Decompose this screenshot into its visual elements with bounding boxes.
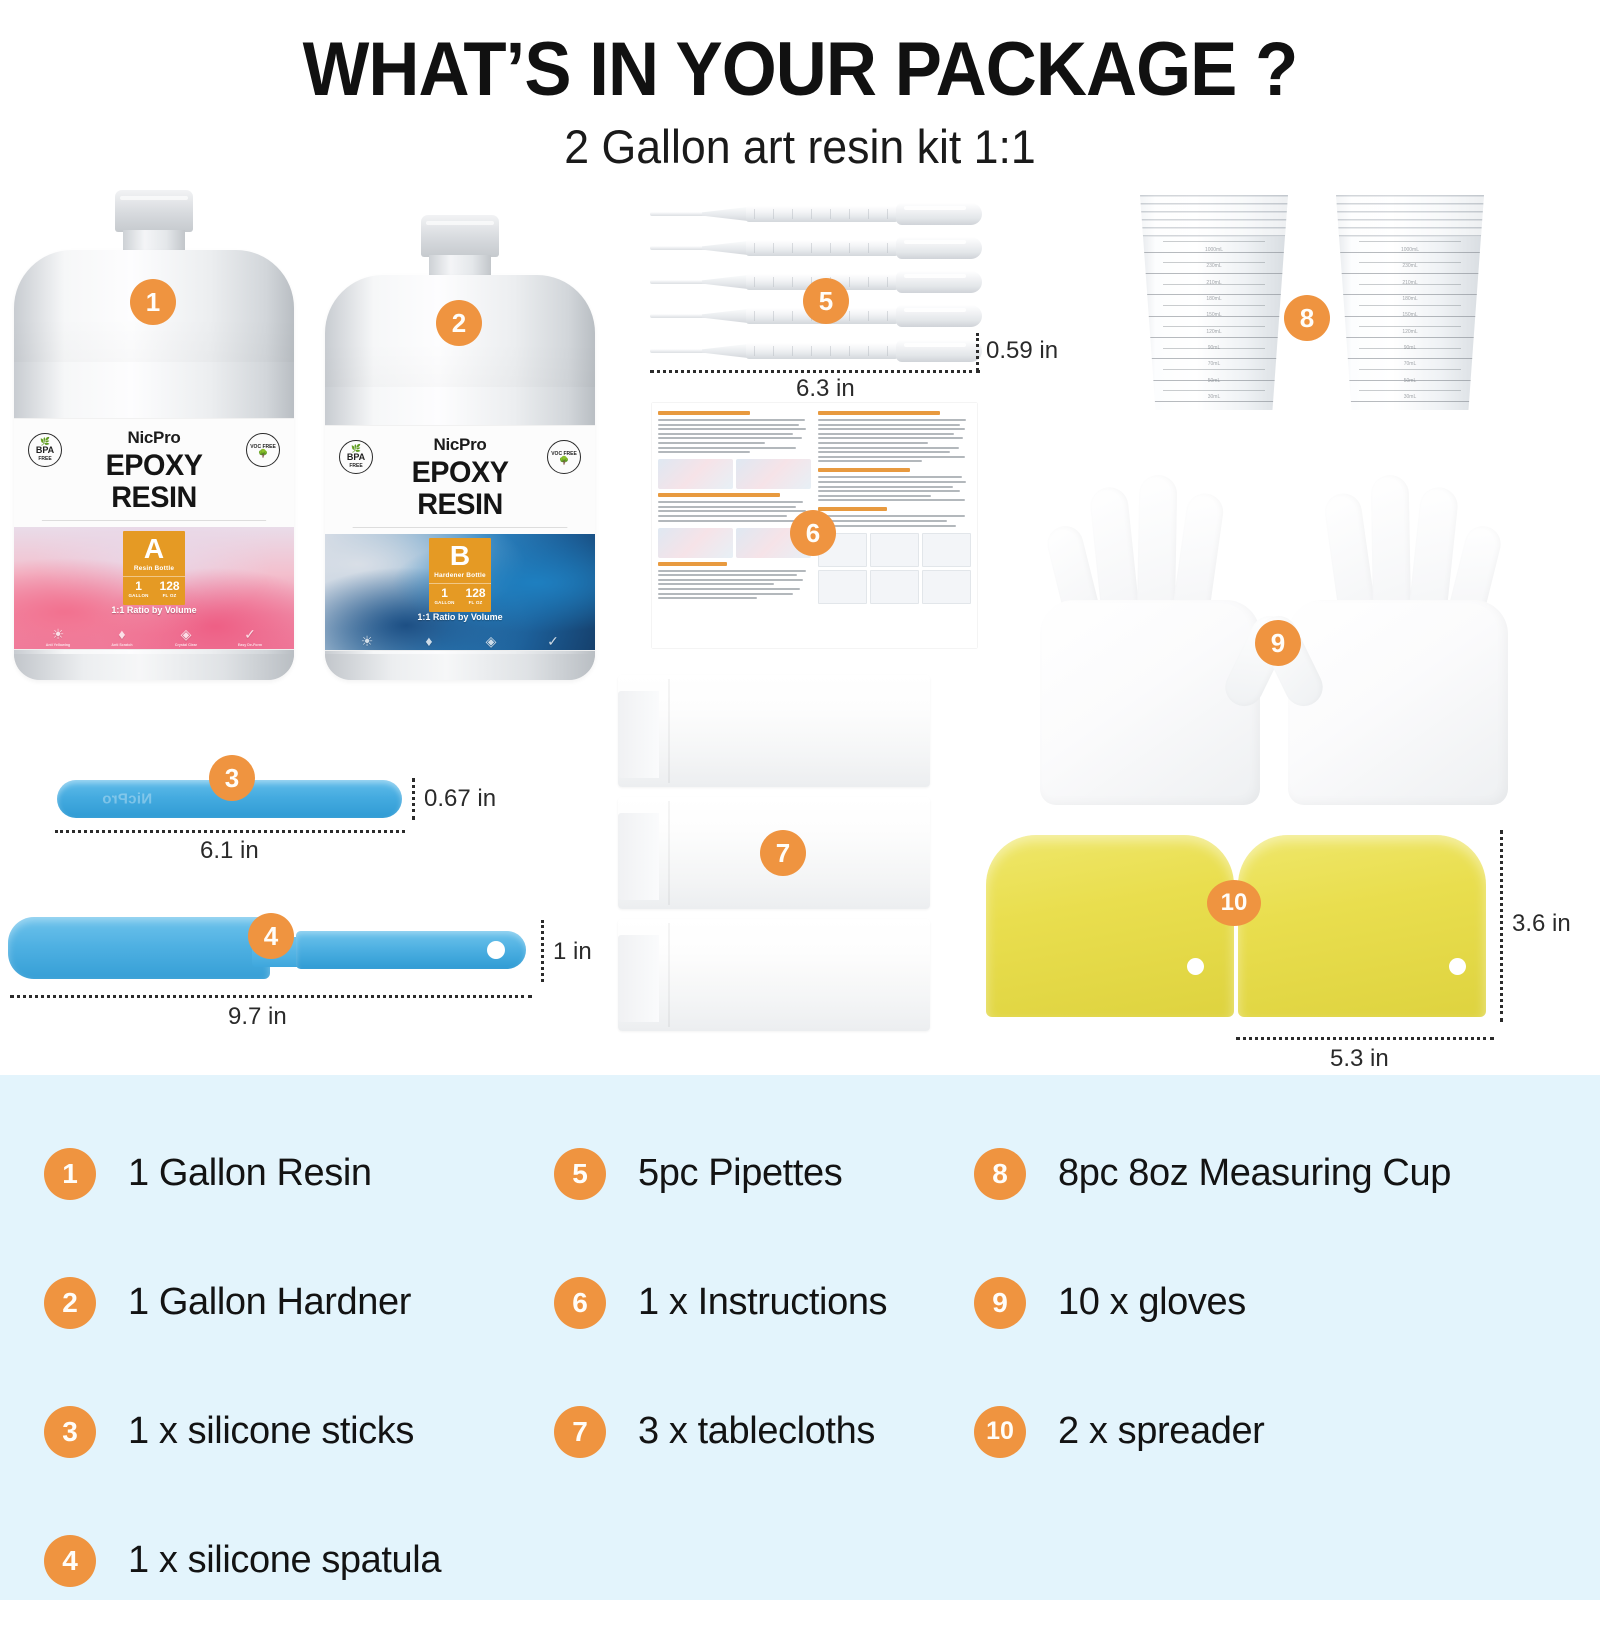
sheet-paragraph	[818, 419, 971, 462]
spatula-length-line	[10, 995, 532, 998]
chip-gallon: 1 GALLON	[434, 587, 454, 605]
cup-graduation-labels: 1000mL230mL210mL180mL150mL120mL90mL70mL5…	[1166, 247, 1262, 400]
sheet-product-grid	[818, 533, 971, 604]
stick-length-line	[55, 830, 405, 833]
sheet-heading	[658, 562, 727, 566]
label-artwork-blue: B Hardener Bottle 1 GALLON 128 FL OZ	[325, 534, 595, 651]
feature-crystal-clear: ◈ Crystal Clear	[166, 627, 206, 647]
sheet-paragraph	[658, 419, 811, 453]
legend-label: 8pc 8oz Measuring Cup	[1058, 1152, 1451, 1195]
diamond-icon: ◈	[471, 634, 511, 648]
legend-label: 5pc Pipettes	[638, 1152, 842, 1195]
pipette-bulb	[896, 305, 982, 327]
brush-icon: ✓	[230, 627, 270, 641]
legend-label: 1 x silicone sticks	[128, 1410, 414, 1453]
bottle-label: 🌿 BPA FREE VOC FREE 🌳 NicPro EPOXY RESIN…	[325, 425, 595, 651]
product-name-line2: RESIN	[20, 483, 289, 512]
sheet-photo	[658, 528, 733, 558]
spreader-height-line	[1500, 830, 1503, 1022]
page-subtitle: 2 Gallon art resin kit 1:1	[40, 119, 1560, 174]
sheet-paragraph	[818, 515, 971, 526]
pipette-height-line	[976, 333, 979, 371]
legend-label: 1 Gallon Resin	[128, 1152, 372, 1195]
feature-anti-yellowing: ☀ Anti Yellowing	[38, 627, 78, 647]
pipette-stem	[650, 314, 708, 318]
legend-label: 1 x silicone spatula	[128, 1539, 441, 1582]
pipette-height-label: 0.59 in	[986, 337, 1058, 365]
legend-badge: 6	[554, 1277, 606, 1329]
callout-badge-9: 9	[1255, 620, 1301, 666]
tablecloth	[618, 675, 930, 787]
feature-easy-deform: ✓ Easy De-Form	[533, 634, 573, 651]
pipette-length-line	[650, 370, 980, 373]
sheet-heading	[658, 411, 750, 415]
legend-item-9: 9 10 x gloves	[974, 1238, 1564, 1367]
measuring-cup: 1000mL230mL210mL180mL150mL120mL90mL70mL5…	[1128, 195, 1300, 410]
feature-icon-row: ☀ Anti Yellowing ♦ Anti Scratch ◈ Crysta…	[325, 634, 595, 651]
measuring-cup: 1000mL230mL210mL180mL150mL120mL90mL70mL5…	[1324, 195, 1496, 410]
legend-item-empty	[974, 1496, 1564, 1625]
bottle-cap	[421, 215, 499, 257]
cup-rim-stack	[1128, 195, 1300, 237]
pipette-stem	[650, 246, 708, 250]
pipette-length-label: 6.3 in	[796, 375, 855, 403]
pipette-cone	[702, 207, 748, 221]
legend-panel: 1 1 Gallon Resin 5 5pc Pipettes 8 8pc 8o…	[0, 1075, 1600, 1600]
ratio-text: 1:1 Ratio by Volume	[325, 612, 595, 622]
sheet-grid-cell	[870, 533, 919, 567]
product-name-line2: RESIN	[330, 490, 589, 519]
legend-item-10: 10 2 x spreader	[974, 1367, 1564, 1496]
legend-badge: 4	[44, 1535, 96, 1587]
bottle-label: 🌿 BPA FREE VOC FREE 🌳 NicPro EPOXY RESIN…	[14, 418, 294, 650]
feature-label: Crystal Clear	[166, 643, 206, 647]
feature-label: Easy De-Form	[533, 650, 573, 651]
spreader-right	[1238, 835, 1486, 1017]
cup-rim-stack	[1324, 195, 1496, 237]
pipette-cone	[702, 241, 748, 255]
pipette-bulb	[896, 203, 982, 225]
callout-badge-8: 8	[1284, 295, 1330, 341]
glove-palm	[1040, 600, 1260, 805]
legend-label: 1 x Instructions	[638, 1281, 887, 1324]
chip-gallon-number: 1	[434, 587, 454, 599]
product-name-line1: EPOXY	[330, 458, 589, 487]
legend-item-3: 3 1 x silicone sticks	[44, 1367, 554, 1496]
chip-role: Resin Bottle	[123, 565, 185, 572]
feature-crystal-clear: ◈ Crystal Clear	[471, 634, 511, 651]
sheet-heading	[818, 468, 910, 472]
chip-gallon-unit: GALLON	[434, 600, 454, 605]
feature-label: Anti Scratch	[409, 650, 449, 651]
callout-badge-1: 1	[130, 279, 176, 325]
sheet-grid-cell	[870, 570, 919, 604]
legend-badge: 5	[554, 1148, 606, 1200]
legend-badge: 1	[44, 1148, 96, 1200]
callout-badge-2: 2	[436, 300, 482, 346]
spatula-height-label: 1 in	[553, 938, 592, 966]
feature-label: Easy De-Form	[230, 643, 270, 647]
hardener-chip: B Hardener Bottle 1 GALLON 128 FL OZ	[429, 538, 491, 612]
pipette-cone	[702, 275, 748, 289]
feature-label: Anti Scratch	[102, 643, 142, 647]
callout-badge-4: 4	[248, 913, 294, 959]
chip-floz-number: 128	[160, 580, 180, 592]
product-bottle-resin: 🌿 BPA FREE VOC FREE 🌳 NicPro EPOXY RESIN…	[14, 190, 294, 680]
spreader-width-line	[1236, 1037, 1494, 1040]
spatula-height-line	[541, 920, 544, 982]
chip-letter: B	[429, 543, 491, 570]
legend-label: 10 x gloves	[1058, 1281, 1246, 1324]
page-title: WHAT’S IN YOUR PACKAGE ?	[56, 26, 1544, 113]
feature-anti-scratch: ♦ Anti Scratch	[102, 627, 142, 647]
feature-label: Anti Yellowing	[347, 650, 387, 651]
sheet-paragraph	[658, 570, 811, 600]
sheet-photo	[736, 459, 811, 489]
stick-emboss-text: NicPro	[102, 791, 152, 808]
feature-anti-scratch: ♦ Anti Scratch	[409, 634, 449, 651]
product-name-line1: EPOXY	[20, 451, 289, 480]
sun-icon: ☀	[347, 634, 387, 648]
glove-right	[1288, 475, 1508, 805]
label-artwork-pink: A Resin Bottle 1 GALLON 128 FL OZ	[14, 527, 294, 649]
stick-height-label: 0.67 in	[424, 785, 496, 813]
sheet-photo	[658, 459, 733, 489]
legend-grid: 1 1 Gallon Resin 5 5pc Pipettes 8 8pc 8o…	[44, 1109, 1564, 1625]
pipette-graduations	[754, 243, 888, 253]
feature-label: Anti Yellowing	[38, 643, 78, 647]
chip-floz: 128 FL OZ	[466, 587, 486, 605]
spreader-hang-hole	[1449, 958, 1466, 975]
feature-anti-yellowing: ☀ Anti Yellowing	[347, 634, 387, 651]
feature-easy-deform: ✓ Easy De-Form	[230, 627, 270, 647]
pipette-bulb	[896, 237, 982, 259]
legend-item-empty	[554, 1496, 974, 1625]
chip-gallon-number: 1	[128, 580, 148, 592]
legend-badge: 3	[44, 1406, 96, 1458]
spatula-length-label: 9.7 in	[228, 1003, 287, 1031]
label-top-section: 🌿 BPA FREE VOC FREE 🌳 NicPro EPOXY RESIN…	[14, 419, 294, 527]
chip-letter: A	[123, 536, 185, 563]
stick-length-label: 6.1 in	[200, 837, 259, 865]
sheet-grid-cell	[922, 533, 971, 567]
chip-role: Hardener Bottle	[429, 572, 491, 579]
legend-badge: 7	[554, 1406, 606, 1458]
sheet-heading	[818, 507, 887, 511]
spreader-width-label: 5.3 in	[1330, 1045, 1389, 1073]
pipette-bulb	[896, 340, 982, 362]
pipette-bulb	[896, 271, 982, 293]
feature-icon-row: ☀ Anti Yellowing ♦ Anti Scratch ◈ Crysta…	[14, 627, 294, 647]
tablecloth	[618, 919, 930, 1031]
callout-badge-10: 10	[1207, 880, 1261, 926]
legend-item-5: 5 5pc Pipettes	[554, 1109, 974, 1238]
chip-floz-number: 128	[466, 587, 486, 599]
product-stage: 🌿 BPA FREE VOC FREE 🌳 NicPro EPOXY RESIN…	[0, 175, 1600, 1075]
label-top-section: 🌿 BPA FREE VOC FREE 🌳 NicPro EPOXY RESIN…	[325, 426, 595, 534]
legend-item-8: 8 8pc 8oz Measuring Cup	[974, 1109, 1564, 1238]
chip-quantities: 1 GALLON 128 FL OZ	[123, 576, 185, 598]
sheet-image-row	[658, 459, 811, 489]
sheet-column-left	[658, 411, 811, 640]
callout-badge-6: 6	[790, 510, 836, 556]
spreader-left	[986, 835, 1234, 1017]
sheet-paragraph	[818, 476, 971, 501]
sheet-column-right	[818, 411, 971, 640]
legend-label: 2 x spreader	[1058, 1410, 1264, 1453]
ratio-text: 1:1 Ratio by Volume	[14, 605, 294, 615]
bottle-base	[14, 654, 294, 680]
pipette-graduations	[754, 346, 888, 356]
bottle-base	[325, 654, 595, 680]
sheet-heading	[658, 493, 780, 497]
pipette-stem	[650, 212, 708, 216]
spatula-blade	[8, 917, 270, 979]
glove-palm	[1288, 600, 1508, 805]
sheet-grid-cell	[922, 570, 971, 604]
shield-icon: ♦	[409, 634, 449, 648]
spatula-hang-hole	[487, 941, 505, 959]
legend-badge: 9	[974, 1277, 1026, 1329]
pipette-cone	[702, 309, 748, 323]
resin-chip: A Resin Bottle 1 GALLON 128 FL OZ	[123, 531, 185, 605]
chip-floz-unit: FL OZ	[160, 593, 180, 598]
feature-label: Crystal Clear	[471, 650, 511, 651]
legend-badge: 10	[974, 1406, 1026, 1458]
chip-floz: 128 FL OZ	[160, 580, 180, 598]
sheet-heading	[818, 411, 940, 415]
sheet-grid-cell	[818, 570, 867, 604]
chip-quantities: 1 GALLON 128 FL OZ	[429, 583, 491, 605]
chip-gallon-unit: GALLON	[128, 593, 148, 598]
legend-badge: 8	[974, 1148, 1026, 1200]
glove-left	[1040, 475, 1260, 805]
sun-icon: ☀	[38, 627, 78, 641]
cup-graduation-labels: 1000mL230mL210mL180mL150mL120mL90mL70mL5…	[1362, 247, 1458, 400]
legend-label: 1 Gallon Hardner	[128, 1281, 411, 1324]
pipette-cone	[702, 344, 748, 358]
legend-item-4: 4 1 x silicone spatula	[44, 1496, 554, 1625]
sheet-paragraph	[658, 501, 811, 521]
brush-icon: ✓	[533, 634, 573, 648]
spreader-height-label: 3.6 in	[1512, 910, 1571, 938]
product-bottle-hardener: 🌿 BPA FREE VOC FREE 🌳 NicPro EPOXY RESIN…	[325, 215, 595, 680]
pipette-graduations	[754, 209, 888, 219]
stick-height-line	[412, 778, 415, 820]
callout-badge-5: 5	[803, 278, 849, 324]
legend-item-1: 1 1 Gallon Resin	[44, 1109, 554, 1238]
legend-item-6: 6 1 x Instructions	[554, 1238, 974, 1367]
chip-gallon: 1 GALLON	[128, 580, 148, 598]
shield-icon: ♦	[102, 627, 142, 641]
pipette-stem	[650, 280, 708, 284]
sheet-image-row	[658, 528, 811, 558]
callout-badge-3: 3	[209, 755, 255, 801]
legend-item-2: 2 1 Gallon Hardner	[44, 1238, 554, 1367]
callout-badge-7: 7	[760, 830, 806, 876]
pipette-stem	[650, 349, 708, 353]
legend-item-7: 7 3 x tablecloths	[554, 1367, 974, 1496]
legend-label: 3 x tablecloths	[638, 1410, 875, 1453]
spreader-hang-hole	[1187, 958, 1204, 975]
page-header: WHAT’S IN YOUR PACKAGE ? 2 Gallon art re…	[0, 0, 1600, 175]
legend-badge: 2	[44, 1277, 96, 1329]
diamond-icon: ◈	[166, 627, 206, 641]
bottle-cap	[115, 190, 193, 232]
chip-floz-unit: FL OZ	[466, 600, 486, 605]
